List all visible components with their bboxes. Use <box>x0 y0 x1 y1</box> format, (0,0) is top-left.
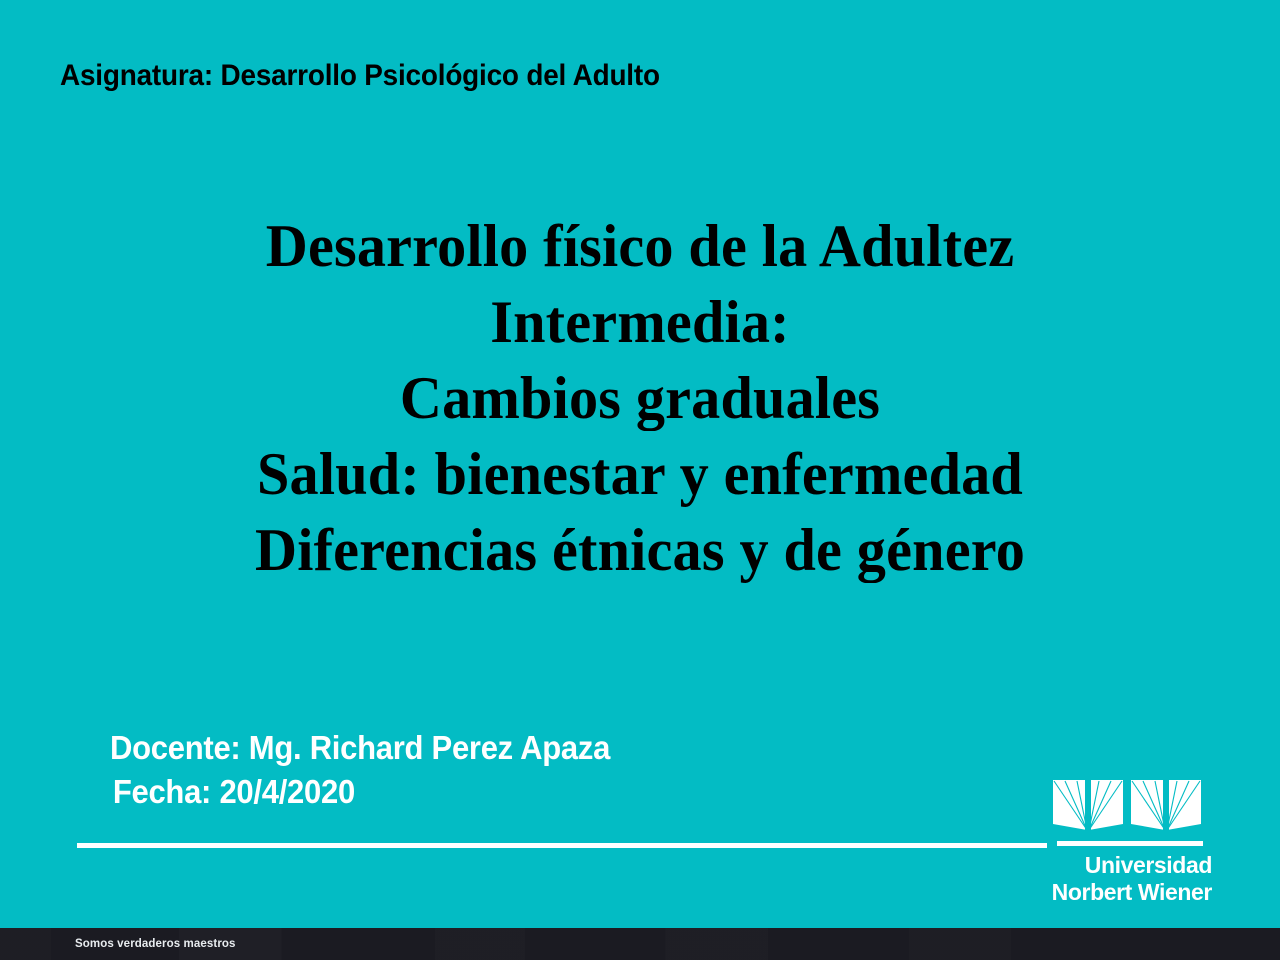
slide-title-block: Desarrollo físico de la Adultez Intermed… <box>0 208 1280 588</box>
presentation-slide: Asignatura: Desarrollo Psicológico del A… <box>0 0 1280 960</box>
title-line-2: Intermedia: <box>19 284 1261 360</box>
divider-rule <box>77 843 1047 848</box>
logo-wordmark-line-1: Universidad <box>1040 852 1212 879</box>
logo-wordmark: Universidad Norbert Wiener <box>1040 852 1212 906</box>
open-books-logo-icon <box>1053 778 1201 838</box>
course-subject-label: Asignatura: Desarrollo Psicológico del A… <box>60 58 660 94</box>
date-label: Fecha: 20/4/2020 <box>110 770 610 814</box>
instructor-label: Docente: Mg. Richard Perez Apaza <box>110 726 610 770</box>
title-line-1: Desarrollo físico de la Adultez <box>19 208 1261 284</box>
title-line-3: Cambios graduales <box>19 360 1261 436</box>
title-line-5: Diferencias étnicas y de género <box>19 512 1261 588</box>
presenter-info-block: Docente: Mg. Richard Perez Apaza Fecha: … <box>110 726 610 814</box>
logo-underline <box>1057 841 1203 846</box>
title-line-4: Salud: bienestar y enfermedad <box>19 436 1261 512</box>
logo-wordmark-line-2: Norbert Wiener <box>1040 879 1212 906</box>
university-logo: Universidad Norbert Wiener <box>1040 778 1212 913</box>
footer-tagline: Somos verdaderos maestros <box>75 936 236 951</box>
